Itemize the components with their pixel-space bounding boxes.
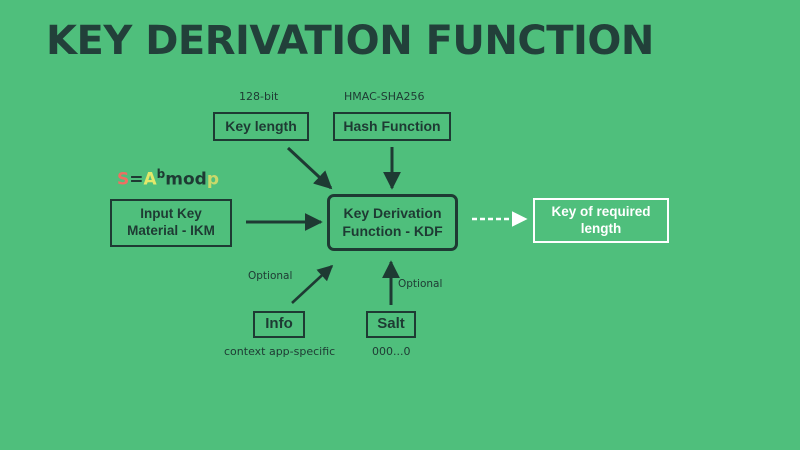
box-key-derivation-function[interactable]: Key Derivation Function - KDF — [327, 194, 458, 251]
arrow-key-length-to-kdf — [288, 148, 331, 188]
box-kdf-line2: Function - KDF — [342, 223, 442, 241]
optional-label-salt: Optional — [398, 278, 442, 290]
formula-b-exponent: b — [157, 167, 166, 181]
formula-s: S — [117, 170, 129, 190]
info-caption: context app-specific — [224, 345, 335, 358]
box-ikm-line1: Input Key — [140, 206, 202, 223]
optional-label-info: Optional — [248, 270, 292, 282]
box-output-key[interactable]: Key of required length — [533, 198, 669, 243]
hash-function-caption: HMAC-SHA256 — [344, 90, 425, 103]
box-input-key-material[interactable]: Input Key Material - IKM — [110, 199, 232, 247]
box-output-line1: Key of required — [551, 204, 650, 221]
box-kdf-line1: Key Derivation — [343, 205, 441, 223]
box-hash-function[interactable]: Hash Function — [333, 112, 451, 141]
formula-mod: mod — [165, 170, 207, 190]
box-salt[interactable]: Salt — [366, 311, 416, 338]
formula-p: p — [207, 170, 219, 190]
box-salt-label: Salt — [377, 315, 405, 334]
key-length-caption: 128-bit — [239, 90, 278, 103]
formula-equals: = — [129, 170, 143, 190]
slide-canvas: KEY DERIVATION FUNCTION 128-bit HMAC-SHA… — [0, 0, 800, 450]
box-output-line2: length — [581, 221, 622, 238]
box-key-length[interactable]: Key length — [213, 112, 309, 141]
formula-a: A — [144, 170, 157, 190]
box-hash-function-label: Hash Function — [343, 118, 440, 136]
box-info-label: Info — [265, 315, 293, 334]
diffie-hellman-formula: S=Abmodp — [117, 168, 219, 189]
arrow-info-to-kdf — [292, 266, 332, 303]
page-title: KEY DERIVATION FUNCTION — [46, 18, 654, 64]
box-key-length-label: Key length — [225, 118, 297, 136]
salt-caption: 000...0 — [372, 345, 410, 358]
box-info[interactable]: Info — [253, 311, 305, 338]
box-ikm-line2: Material - IKM — [127, 223, 215, 240]
